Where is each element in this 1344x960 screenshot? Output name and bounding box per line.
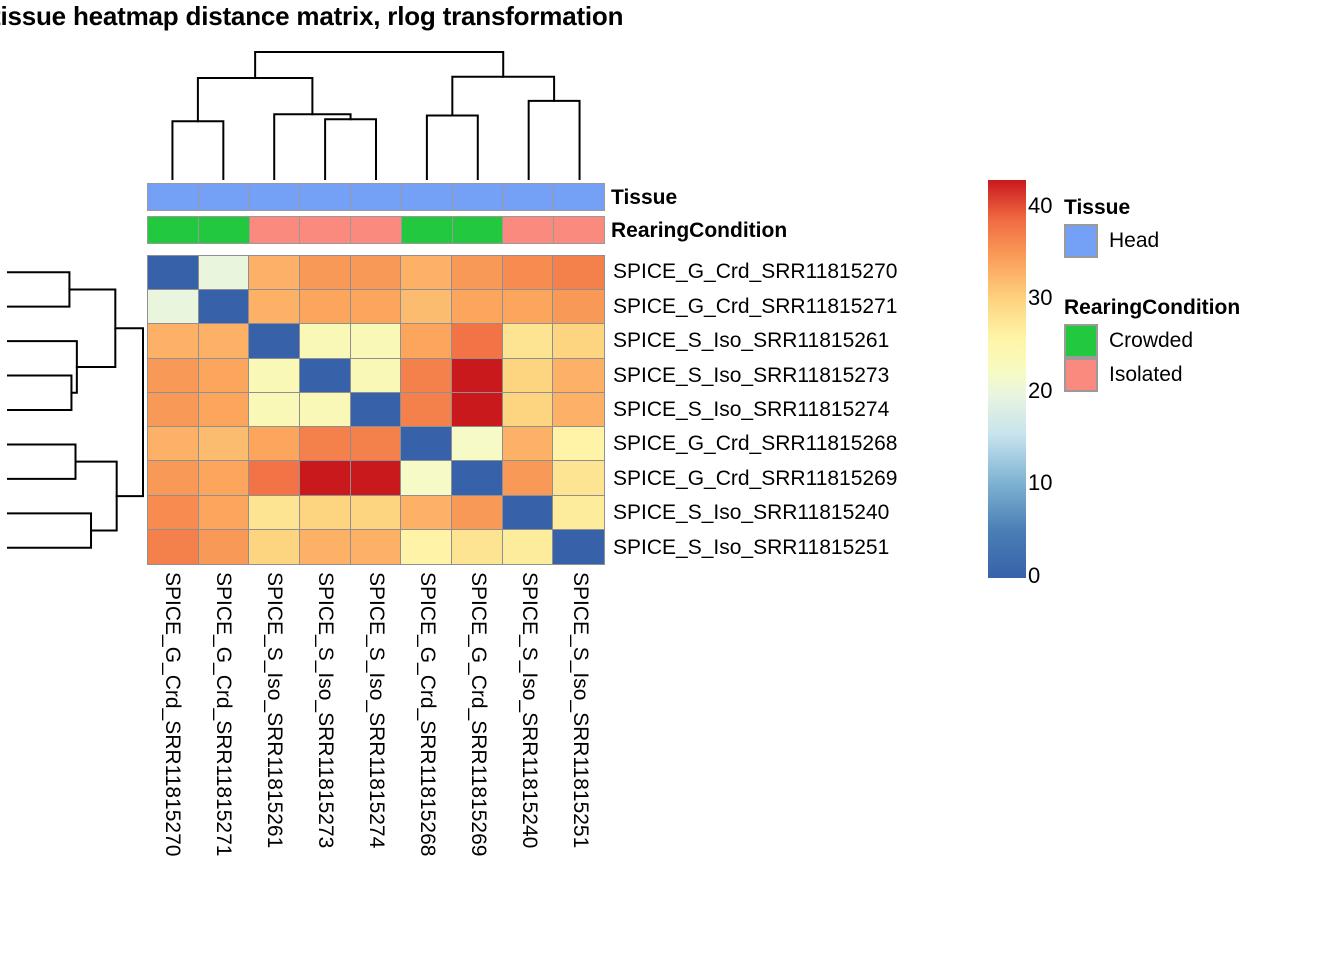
column-label-slot: SPICE_S_Iso_SRR11815274 <box>351 572 402 952</box>
heatmap-cell <box>199 461 250 495</box>
legend-tissue-item[interactable]: Head <box>1064 224 1159 258</box>
heatmap-cell <box>452 290 503 324</box>
heatmap-cell <box>199 324 250 358</box>
heatmap-cell <box>553 530 604 564</box>
heatmap-cell <box>503 530 554 564</box>
heatmap-cell <box>199 427 250 461</box>
heatmap-cell <box>199 359 250 393</box>
column-label: SPICE_S_Iso_SRR11815251 <box>568 572 592 848</box>
rearing-condition-cell <box>503 217 554 243</box>
heatmap-cell <box>300 496 351 530</box>
heatmap-cell <box>401 393 452 427</box>
legend-rearing-condition-swatch <box>1064 358 1098 392</box>
heatmap-cell <box>553 393 604 427</box>
heatmap-cell <box>249 530 300 564</box>
heatmap-cell <box>553 256 604 290</box>
colorbar-tick-label: 20 <box>1028 378 1052 404</box>
column-label-slot: SPICE_G_Crd_SRR11815269 <box>452 572 503 952</box>
heatmap-cell <box>300 427 351 461</box>
heatmap-cell <box>249 496 300 530</box>
heatmap-cell <box>351 530 402 564</box>
annotation-bar-rearing-condition <box>147 216 605 244</box>
heatmap-cell <box>249 256 300 290</box>
legend-rearing-condition-label: Crowded <box>1109 329 1193 353</box>
row-label: SPICE_S_Iso_SRR11815274 <box>607 393 987 427</box>
column-label-slot: SPICE_S_Iso_SRR11815251 <box>554 572 605 952</box>
colorbar-tick-label: 30 <box>1028 285 1052 311</box>
row-label: SPICE_G_Crd_SRR11815271 <box>607 289 987 323</box>
rearing-condition-cell <box>250 217 301 243</box>
heatmap-cell <box>351 359 402 393</box>
column-label: SPICE_S_Iso_SRR11815273 <box>313 572 337 848</box>
heatmap-cell <box>199 530 250 564</box>
tissue-cell <box>351 184 402 210</box>
row-label: SPICE_S_Iso_SRR11815273 <box>607 358 987 392</box>
column-label: SPICE_G_Crd_SRR11815269 <box>466 572 490 856</box>
rearing-condition-cell <box>148 217 199 243</box>
column-label-slot: SPICE_G_Crd_SRR11815271 <box>198 572 249 952</box>
heatmap-cell <box>300 393 351 427</box>
rearing-condition-cell <box>402 217 453 243</box>
page-title: tissue heatmap distance matrix, rlog tra… <box>0 1 992 32</box>
legend-rearing-condition-swatch <box>1064 324 1098 358</box>
tissue-cell <box>148 184 199 210</box>
legend-tissue: TissueHead <box>1064 196 1159 258</box>
legend-rearing-condition-title: RearingCondition <box>1064 296 1240 320</box>
legend-rearing-condition-label: Isolated <box>1109 363 1183 387</box>
heatmap-cell <box>148 530 199 564</box>
column-label-slot: SPICE_S_Iso_SRR11815273 <box>300 572 351 952</box>
heatmap-cell <box>553 324 604 358</box>
legend-rearing-condition-item[interactable]: Crowded <box>1064 324 1240 358</box>
heatmap-cell <box>452 496 503 530</box>
heatmap-cell <box>249 427 300 461</box>
legend-rearing-condition: RearingConditionCrowdedIsolated <box>1064 296 1240 392</box>
tissue-cell <box>300 184 351 210</box>
tissue-cell <box>453 184 504 210</box>
heatmap-cell <box>148 359 199 393</box>
heatmap-cell <box>199 256 250 290</box>
heatmap-cell <box>351 427 402 461</box>
colorbar <box>988 180 1026 578</box>
heatmap-cell <box>199 393 250 427</box>
rearing-condition-cell <box>300 217 351 243</box>
heatmap-cell <box>148 290 199 324</box>
rearing-condition-cell <box>554 217 604 243</box>
heatmap-cell <box>199 496 250 530</box>
rearing-condition-cell <box>199 217 250 243</box>
heatmap-cell <box>351 324 402 358</box>
heatmap-cell <box>249 359 300 393</box>
heatmap-cell <box>401 359 452 393</box>
colorbar-tick-label: 10 <box>1028 470 1052 496</box>
heatmap-cell <box>503 393 554 427</box>
heatmap-cell <box>401 256 452 290</box>
heatmap-cell <box>503 461 554 495</box>
annotation-label-tissue: Tissue <box>611 186 677 210</box>
row-label-list: SPICE_G_Crd_SRR11815270SPICE_G_Crd_SRR11… <box>607 255 987 565</box>
rearing-condition-cell <box>453 217 504 243</box>
tissue-cell <box>250 184 301 210</box>
heatmap-cell <box>148 427 199 461</box>
heatmap-cell <box>300 530 351 564</box>
column-label-slot: SPICE_S_Iso_SRR11815240 <box>503 572 554 952</box>
column-label-slot: SPICE_G_Crd_SRR11815270 <box>147 572 198 952</box>
heatmap-cell <box>148 393 199 427</box>
row-label: SPICE_G_Crd_SRR11815269 <box>607 462 987 496</box>
column-label: SPICE_G_Crd_SRR11815268 <box>415 572 439 856</box>
heatmap-cell <box>300 290 351 324</box>
legend-tissue-swatch <box>1064 224 1098 258</box>
column-dendrogram <box>147 48 605 183</box>
tissue-cell <box>402 184 453 210</box>
legend-tissue-label: Head <box>1109 229 1159 253</box>
column-label-list: SPICE_G_Crd_SRR11815270SPICE_G_Crd_SRR11… <box>147 572 605 952</box>
heatmap-cell <box>199 290 250 324</box>
heatmap-cell <box>503 359 554 393</box>
heatmap-cell <box>553 496 604 530</box>
legend-tissue-title: Tissue <box>1064 196 1159 220</box>
row-label: SPICE_S_Iso_SRR11815251 <box>607 531 987 565</box>
column-label-slot: SPICE_S_Iso_SRR11815261 <box>249 572 300 952</box>
heatmap-cell <box>503 324 554 358</box>
heatmap-cell <box>452 359 503 393</box>
heatmap-cell <box>452 256 503 290</box>
heatmap-cell <box>249 393 300 427</box>
annotation-label-rearing-condition: RearingCondition <box>611 219 787 243</box>
heatmap-cell <box>401 290 452 324</box>
tissue-cell <box>503 184 554 210</box>
heatmap-cell <box>503 496 554 530</box>
heatmap-cell <box>553 290 604 324</box>
heatmap-cell <box>452 427 503 461</box>
heatmap-cell <box>300 359 351 393</box>
heatmap-cell <box>351 496 402 530</box>
heatmap-cell <box>553 461 604 495</box>
heatmap-cell <box>401 461 452 495</box>
row-label: SPICE_G_Crd_SRR11815268 <box>607 427 987 461</box>
rearing-condition-cell <box>351 217 402 243</box>
heatmap-cell <box>503 290 554 324</box>
heatmap-cell <box>452 461 503 495</box>
row-label: SPICE_S_Iso_SRR11815261 <box>607 324 987 358</box>
heatmap-cell <box>148 256 199 290</box>
tissue-cell <box>554 184 604 210</box>
heatmap-cell <box>401 324 452 358</box>
heatmap-cell <box>249 290 300 324</box>
row-dendrogram <box>4 255 147 565</box>
heatmap-figure: tissue heatmap distance matrix, rlog tra… <box>0 0 1344 960</box>
heatmap-cell <box>401 530 452 564</box>
heatmap-cell <box>452 393 503 427</box>
row-label: SPICE_G_Crd_SRR11815270 <box>607 255 987 289</box>
heatmap-cell <box>148 496 199 530</box>
column-label: SPICE_G_Crd_SRR11815271 <box>211 572 235 856</box>
column-label: SPICE_S_Iso_SRR11815274 <box>364 572 388 848</box>
heatmap-matrix <box>147 255 605 565</box>
column-label: SPICE_S_Iso_SRR11815240 <box>517 572 541 848</box>
heatmap-cell <box>401 427 452 461</box>
heatmap-cell <box>401 496 452 530</box>
annotation-bar-tissue <box>147 183 605 211</box>
heatmap-cell <box>300 324 351 358</box>
heatmap-cell <box>300 256 351 290</box>
heatmap-cell <box>300 461 351 495</box>
heatmap-cell <box>553 359 604 393</box>
heatmap-cell <box>452 324 503 358</box>
heatmap-cell <box>148 461 199 495</box>
heatmap-cell <box>351 256 402 290</box>
tissue-cell <box>199 184 250 210</box>
row-label: SPICE_S_Iso_SRR11815240 <box>607 496 987 530</box>
colorbar-tick-label: 40 <box>1028 193 1052 219</box>
heatmap-cell <box>148 324 199 358</box>
legend-rearing-condition-item[interactable]: Isolated <box>1064 358 1240 392</box>
column-label: SPICE_G_Crd_SRR11815270 <box>160 572 184 856</box>
column-label-slot: SPICE_G_Crd_SRR11815268 <box>401 572 452 952</box>
heatmap-cell <box>249 324 300 358</box>
heatmap-cell <box>503 256 554 290</box>
heatmap-cell <box>351 290 402 324</box>
heatmap-cell <box>553 427 604 461</box>
heatmap-cell <box>503 427 554 461</box>
heatmap-cell <box>452 530 503 564</box>
heatmap-cell <box>351 461 402 495</box>
heatmap-cell <box>351 393 402 427</box>
colorbar-tick-label: 0 <box>1028 563 1040 589</box>
column-label: SPICE_S_Iso_SRR11815261 <box>262 572 286 848</box>
heatmap-cell <box>249 461 300 495</box>
